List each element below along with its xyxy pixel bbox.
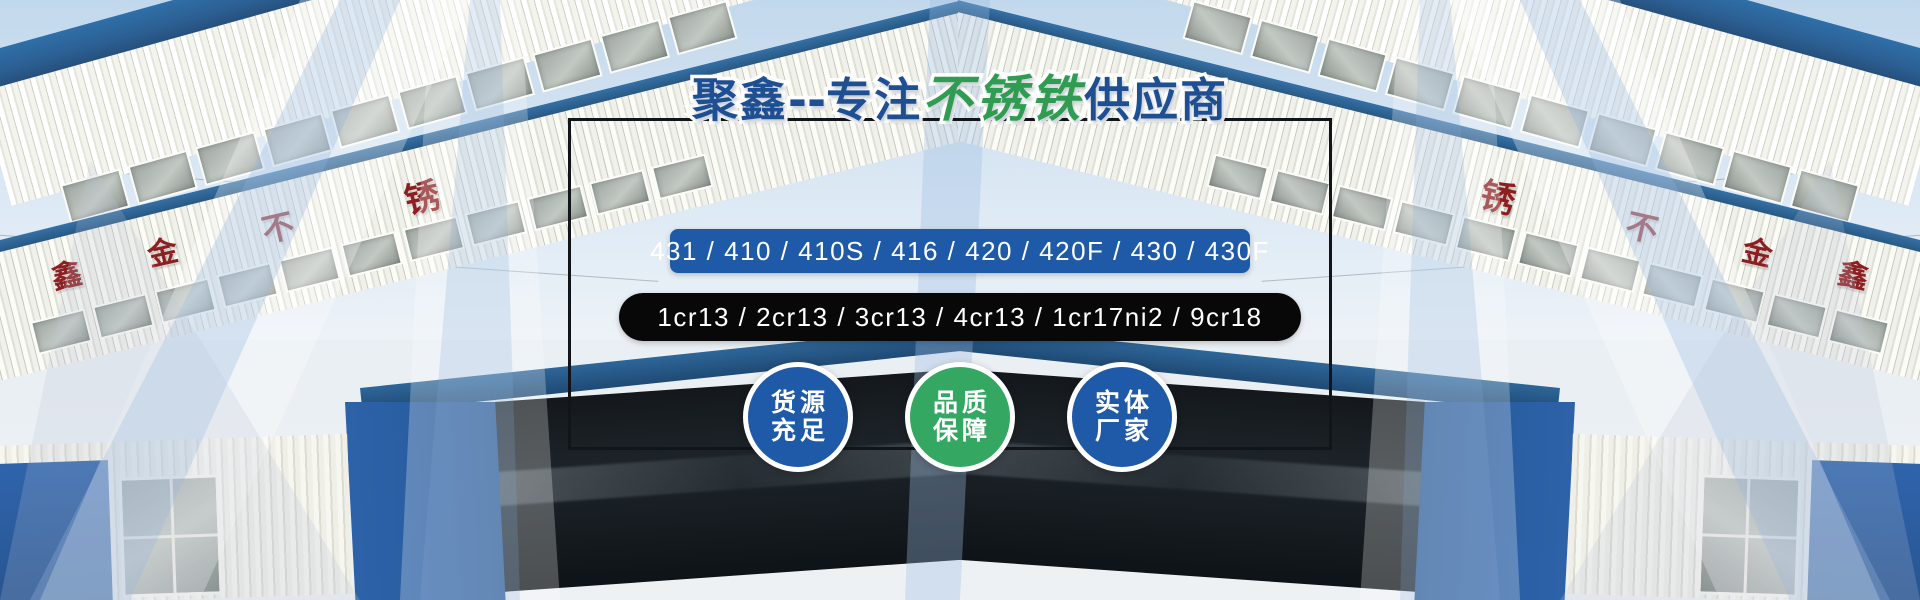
badge-line-2: 厂家 — [1091, 417, 1153, 445]
headline-supplier: 供应商 — [1084, 73, 1228, 127]
headline-highlight: 不锈铁 — [922, 70, 1084, 128]
badge-line-2: 充足 — [767, 417, 829, 445]
headline-brand: 聚鑫 — [692, 73, 788, 127]
badge-quality-guarantee: 品质 保障 — [905, 362, 1015, 472]
badge-line-1: 品质 — [929, 389, 991, 417]
grade-bar-secondary: 1cr13 / 2cr13 / 3cr13 / 4cr13 / 1cr17ni2… — [619, 293, 1301, 341]
promo-banner: 鑫 金 不 锈 — [0, 0, 1920, 600]
headline-focus: 专注 — [826, 73, 922, 127]
headline-dash: -- — [788, 73, 826, 127]
banner-content: 聚鑫--专注不锈铁供应商 431 / 410 / 410S / 416 / 42… — [0, 0, 1920, 600]
badge-real-factory: 实体 厂家 — [1067, 362, 1177, 472]
badge-line-1: 货源 — [767, 389, 829, 417]
badge-supply-sufficient: 货源 充足 — [743, 362, 853, 472]
badge-line-1: 实体 — [1091, 389, 1153, 417]
banner-headline: 聚鑫--专注不锈铁供应商 — [0, 74, 1920, 124]
badge-line-2: 保障 — [929, 417, 991, 445]
grade-bar-primary: 431 / 410 / 410S / 416 / 420 / 420F / 43… — [670, 229, 1250, 273]
feature-badge-group: 货源 充足 品质 保障 实体 厂家 — [743, 362, 1177, 472]
